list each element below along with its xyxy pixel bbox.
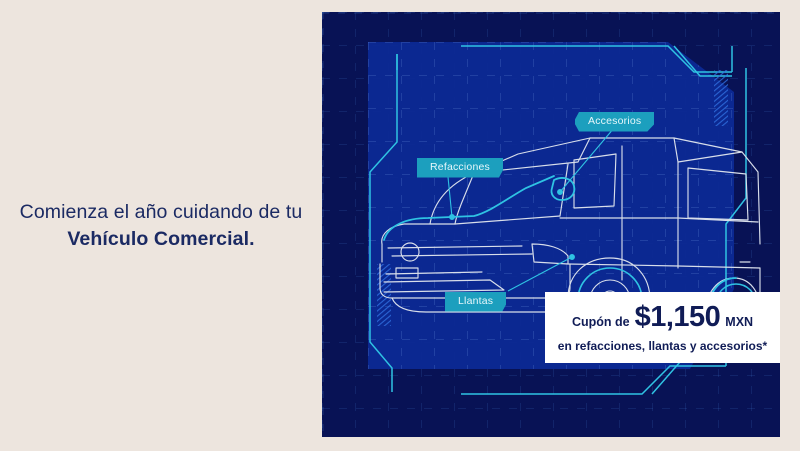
callout-tag-accesorios[interactable]: Accesorios (575, 112, 654, 132)
callout-tag-refacciones-label: Refacciones (430, 161, 490, 173)
callout-tag-accesorios-label: Accesorios (588, 115, 641, 127)
headline-line-1: Comienza el año cuidando de tu (14, 199, 308, 225)
callout-tag-llantas-label: Llantas (458, 295, 493, 307)
callout-tag-refacciones[interactable]: Refacciones (417, 158, 503, 178)
page-title: Comienza el año cuidando de tu Vehículo … (0, 199, 322, 253)
left-copy-panel: Comienza el año cuidando de tu Vehículo … (0, 0, 322, 451)
commercial-van-illustration (322, 12, 780, 437)
headline-line-2: Vehículo Comercial. (14, 226, 308, 252)
coupon-amount-value: $1,150 (635, 303, 721, 332)
callout-tag-llantas[interactable]: Llantas (445, 292, 506, 312)
coupon-headline: Cupón de $1,150 MXN (572, 303, 753, 332)
coupon-subtitle: en refacciones, llantas y accesorios* (558, 339, 767, 353)
hero-panel: Accesorios Refacciones Llantas Cupón de … (322, 12, 780, 437)
coupon-card[interactable]: Cupón de $1,150 MXN en refacciones, llan… (545, 292, 780, 363)
coupon-prefix-label: Cupón de (572, 316, 630, 329)
coupon-currency-label: MXN (725, 316, 753, 329)
